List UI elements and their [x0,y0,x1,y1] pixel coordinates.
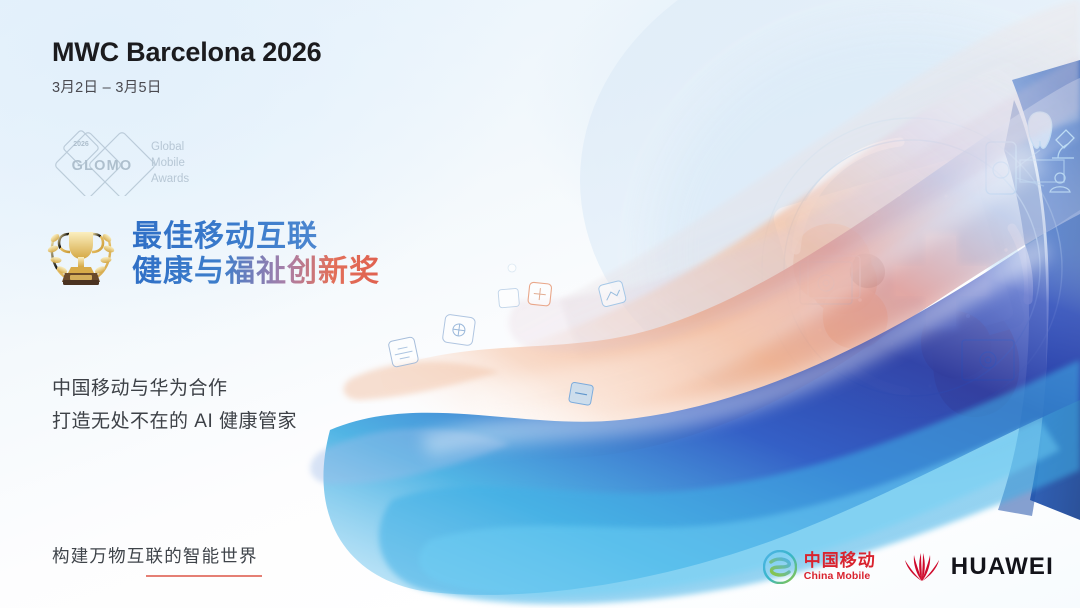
award-text: 最佳移动互联 健康与福祉创新奖 [132,220,380,290]
trophy-icon [44,216,118,294]
china-mobile-swoosh-icon [763,550,797,584]
huawei-wordmark: HUAWEI [951,553,1054,581]
glomo-awards-logo: 2026 GLOMO Global Mobile Awards [50,124,200,196]
subtitle-line-2: 打造无处不在的 AI 健康管家 [52,405,297,438]
huawei-logo: HUAWEI [902,551,1054,583]
subtitle-line-1: 中国移动与华为合作 [52,372,297,405]
glomo-name-line-1: Global [151,141,184,153]
poster-canvas: MWC Barcelona 2026 3月2日 – 3月5日 2026 GLOM… [0,0,1080,608]
event-dates: 3月2日 – 3月5日 [52,76,322,97]
glomo-name-line-2: Mobile [151,157,185,169]
award-headline-block: 最佳移动互联 健康与福祉创新奖 [44,216,380,294]
tagline: 构建万物互联的智能世界 [52,543,258,568]
tagline-underline [146,575,262,577]
china-mobile-wordmark: 中国移动 China Mobile [804,552,876,582]
glomo-name-line-3: Awards [151,173,189,185]
glomo-year: 2026 [73,141,89,148]
huawei-flower-icon [902,551,942,583]
content-layer: MWC Barcelona 2026 3月2日 – 3月5日 2026 GLOM… [0,0,1080,608]
award-line-2: 健康与福祉创新奖 [132,255,380,290]
china-mobile-en: China Mobile [804,571,876,582]
glomo-wordmark: GLOMO [72,158,133,174]
partnership-subtitle: 中国移动与华为合作 打造无处不在的 AI 健康管家 [52,372,297,439]
partner-logos: 中国移动 China Mobile [763,550,1054,584]
award-line-1: 最佳移动互联 [132,220,380,255]
event-title-block: MWC Barcelona 2026 3月2日 – 3月5日 [52,38,322,97]
china-mobile-logo: 中国移动 China Mobile [763,550,876,584]
page-title: MWC Barcelona 2026 [52,38,322,68]
china-mobile-cn: 中国移动 [804,552,876,569]
